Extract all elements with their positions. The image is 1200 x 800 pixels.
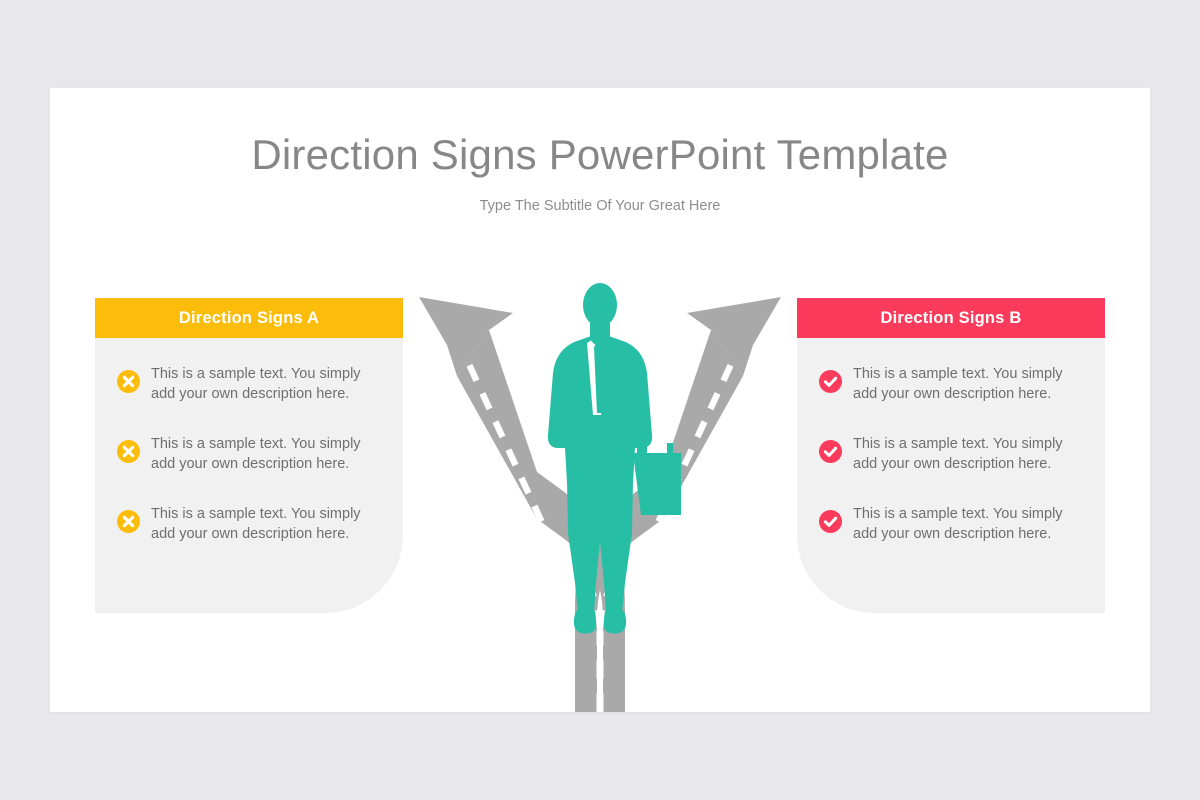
- list-item-text: This is a sample text. You simply add yo…: [151, 434, 383, 474]
- road-arrow-left-icon: [419, 297, 513, 376]
- page-subtitle: Type The Subtitle Of Your Great Here: [50, 198, 1150, 214]
- list-item-text: This is a sample text. You simply add yo…: [853, 434, 1085, 474]
- circle-x-icon: [117, 370, 140, 393]
- panel-header-b: Direction Signs B: [797, 298, 1105, 338]
- circle-check-icon: [819, 370, 842, 393]
- businessman-silhouette-icon: [548, 283, 681, 634]
- center-artwork: [405, 283, 795, 712]
- page-root: Direction Signs PowerPoint Template Type…: [0, 0, 1200, 800]
- road-arrow-right-icon: [687, 297, 781, 376]
- circle-x-icon: [117, 440, 140, 463]
- list-item-text: This is a sample text. You simply add yo…: [151, 504, 383, 544]
- panel-header-a: Direction Signs A: [95, 298, 403, 338]
- list-item: This is a sample text. You simply add yo…: [95, 504, 403, 544]
- list-item: This is a sample text. You simply add yo…: [95, 364, 403, 404]
- page-title: Direction Signs PowerPoint Template: [50, 131, 1150, 179]
- list-item: This is a sample text. You simply add yo…: [95, 434, 403, 474]
- list-item: This is a sample text. You simply add yo…: [797, 434, 1105, 474]
- circle-check-icon: [819, 510, 842, 533]
- panel-body-b: This is a sample text. You simply add yo…: [797, 338, 1105, 613]
- circle-x-icon: [117, 510, 140, 533]
- list-item: This is a sample text. You simply add yo…: [797, 364, 1105, 404]
- list-item: This is a sample text. You simply add yo…: [797, 504, 1105, 544]
- panel-direction-signs-a: Direction Signs A This is a sample text.…: [95, 298, 403, 613]
- list-item-text: This is a sample text. You simply add yo…: [151, 364, 383, 404]
- list-item-text: This is a sample text. You simply add yo…: [853, 364, 1085, 404]
- panel-direction-signs-b: Direction Signs B This is a sample text.…: [797, 298, 1105, 613]
- slide-canvas: Direction Signs PowerPoint Template Type…: [50, 88, 1150, 712]
- forked-road-icon: [419, 297, 781, 712]
- list-item-text: This is a sample text. You simply add yo…: [853, 504, 1085, 544]
- circle-check-icon: [819, 440, 842, 463]
- panel-body-a: This is a sample text. You simply add yo…: [95, 338, 403, 613]
